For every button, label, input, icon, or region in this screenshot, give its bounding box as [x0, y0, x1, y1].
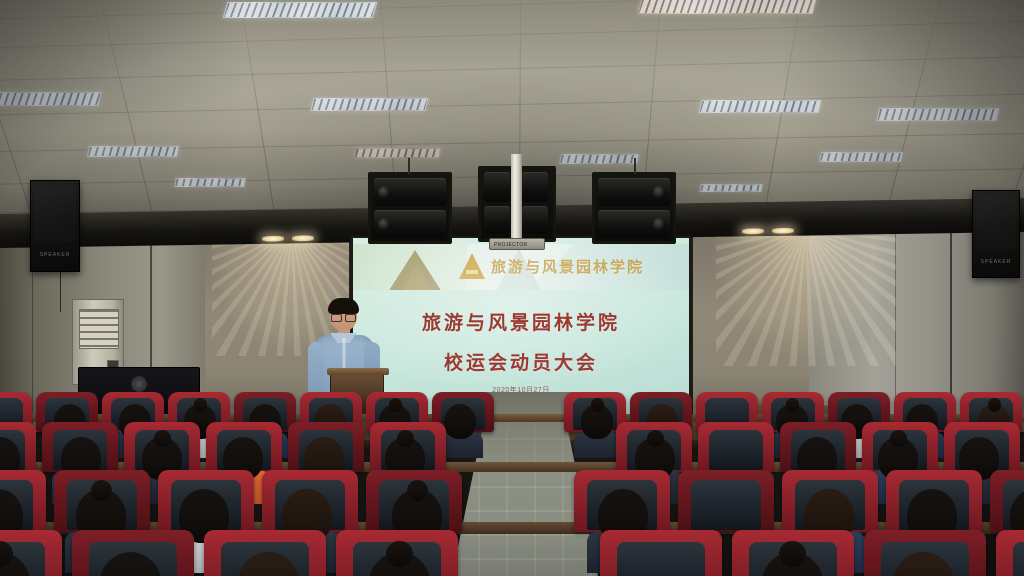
- audience-member: [99, 552, 162, 576]
- audience-hair-bun: [591, 398, 604, 411]
- projector-center-left-upper: [484, 172, 510, 202]
- seat: [600, 530, 722, 576]
- audience-seating: [0, 392, 1024, 576]
- audience-hair-bun: [647, 430, 664, 447]
- projector-center-right-lower: [522, 206, 548, 234]
- slide-subtitle: 校运会动员大会: [353, 348, 689, 375]
- seat-backrest: [691, 480, 760, 530]
- audience-member: [0, 552, 31, 576]
- projector-center-pole: [511, 154, 522, 238]
- audience-hair-bun: [407, 480, 428, 501]
- speaker-left-wire: [60, 272, 61, 312]
- audience-member: [237, 552, 300, 576]
- projector-center-right-upper: [522, 172, 548, 202]
- projector-rig-center: [478, 166, 556, 242]
- ac-vent-grille: [79, 309, 119, 349]
- audience-member: [444, 404, 476, 469]
- speaker-left: SPEAKER: [30, 180, 80, 272]
- projector-left-lower-lens: [378, 218, 391, 231]
- downlight-right: [742, 228, 764, 234]
- speaker-right: SPEAKER: [972, 190, 1020, 278]
- speaker-right-label: SPEAKER: [973, 259, 1019, 265]
- audience-hair-bun: [397, 430, 414, 447]
- projector-right-mount-rod: [634, 158, 636, 174]
- seat: [996, 530, 1024, 576]
- projector-rig-left: [368, 172, 452, 244]
- downlight-left: [262, 236, 284, 242]
- audience-hair-bun: [154, 430, 171, 447]
- monitor-logo-icon: [131, 376, 147, 392]
- audience-member: [581, 404, 613, 469]
- audience-hair-bun: [386, 541, 412, 567]
- projector-left-mount-rod: [408, 158, 410, 174]
- audience-hair-bun: [779, 541, 805, 567]
- audience-head: [892, 552, 955, 576]
- downlight-right-2: [772, 228, 794, 234]
- seat: [678, 470, 774, 532]
- seat-backrest: [617, 542, 705, 576]
- projector-right-lower-lens: [653, 218, 666, 231]
- audience-hair-bun: [988, 398, 1001, 411]
- audience-member: [761, 552, 824, 576]
- projector-right-upper-lens: [653, 186, 666, 199]
- presenter-hair: [328, 298, 359, 314]
- projector-right-lower: [598, 210, 670, 238]
- projection-screen: 旅游与风景园林学院 旅游与风景园林学院 校运会动员大会 2020年10月27日: [353, 238, 689, 418]
- audience-head: [99, 552, 162, 576]
- lectern-top: [327, 368, 389, 375]
- audience-hair-bun: [389, 398, 402, 411]
- projector-plate-label: PROJECTOR: [494, 242, 527, 248]
- seat: [698, 422, 774, 472]
- presenter-left-arm: [308, 342, 324, 398]
- audience-head: [444, 404, 476, 439]
- audience-hair-bun: [194, 398, 207, 411]
- audience-member: [892, 552, 955, 576]
- audience-hair-bun: [786, 398, 799, 411]
- audience-member: [368, 552, 431, 576]
- audience-hair-bun: [91, 480, 112, 501]
- seat-backrest: [709, 430, 764, 470]
- audience-hair-bun: [890, 430, 907, 447]
- auditorium-photo: SPEAKER SPEAKER 旅游与风景园林学院 旅游与风景园林学院 校运会动…: [0, 0, 1024, 576]
- projector-right-upper: [598, 178, 670, 206]
- projector-left-upper-lens: [378, 186, 391, 199]
- downlight-left-2: [292, 235, 314, 241]
- audience-head: [237, 552, 300, 576]
- projector-left-upper: [374, 178, 446, 206]
- projector-center-plate: PROJECTOR: [489, 238, 545, 250]
- projector-left-lower: [374, 210, 446, 238]
- presenter-glasses: [331, 313, 356, 319]
- speaker-left-label: SPEAKER: [31, 252, 79, 258]
- projector-center-left-lower: [484, 206, 510, 234]
- projector-rig-right: [592, 172, 676, 244]
- slide-title: 旅游与风景园林学院: [353, 308, 689, 335]
